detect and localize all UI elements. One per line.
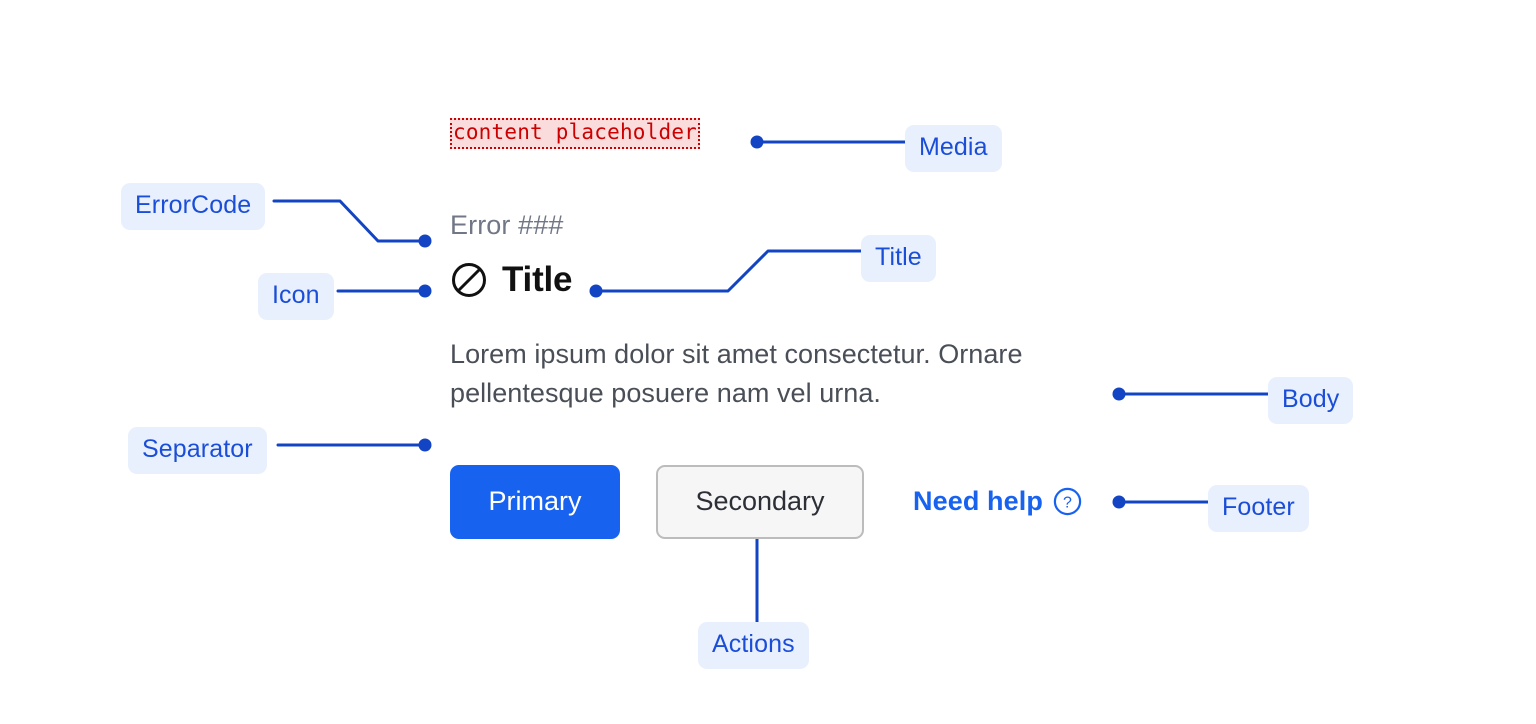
callout-actions[interactable]: Actions [698,622,809,669]
title-row: Title [450,261,1150,299]
callout-body[interactable]: Body [1268,377,1353,424]
callout-media[interactable]: Media [905,125,1002,172]
primary-button[interactable]: Primary [450,465,620,539]
svg-text:?: ? [1063,494,1072,511]
error-state-content: content placeholder Error ### Title Lore… [450,118,1150,539]
callout-errorcode[interactable]: ErrorCode [121,183,265,230]
prohibition-icon [450,261,488,299]
connector-actions [751,525,764,625]
body-text: Lorem ipsum dolor sit amet consectetur. … [450,335,1100,413]
callout-title[interactable]: Title [861,235,936,282]
callout-separator[interactable]: Separator [128,427,267,474]
media-content-placeholder: content placeholder [450,118,700,149]
title-text: Title [502,262,572,297]
need-help-label: Need help [913,488,1043,515]
secondary-button[interactable]: Secondary [656,465,864,539]
connector-errorcode [274,201,432,248]
error-code-text: Error ### [450,212,1150,239]
connector-icon [338,285,432,298]
question-circle-icon[interactable]: ? [1053,487,1082,516]
annotated-error-state-diagram: content placeholder Error ### Title Lore… [0,0,1536,724]
need-help-link[interactable]: Need help ? [913,487,1082,516]
separator-spacer [450,413,1150,465]
callout-icon[interactable]: Icon [258,273,334,320]
callout-footer[interactable]: Footer [1208,485,1309,532]
connector-separator [278,439,432,452]
